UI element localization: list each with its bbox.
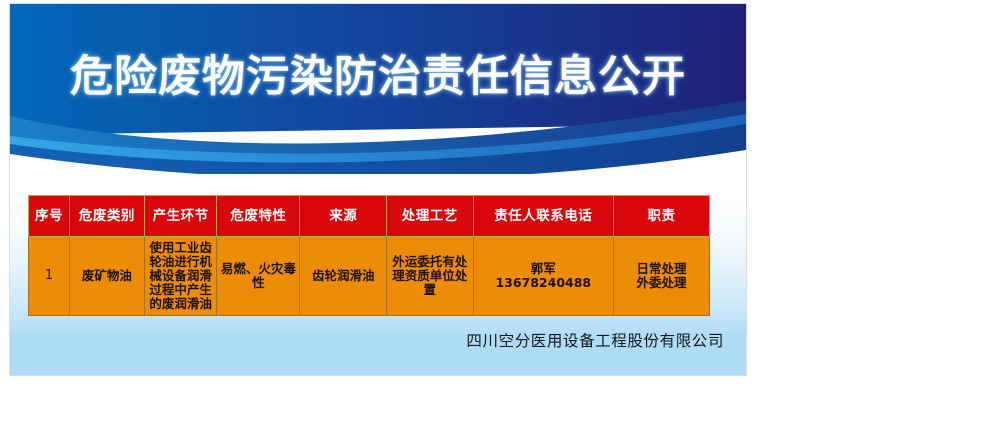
- hazardous-waste-table: 序号 危废类别 产生环节 危废特性 来源 处理工艺 责任人联系电话 职责 1 废…: [28, 195, 710, 316]
- cell-responsible-contact: 郭军 13678240488: [473, 237, 613, 316]
- table-row: 1 废矿物油 使用工业齿轮油进行机械设备润滑过程中产生的废润滑油 易燃、火灾毒性…: [29, 237, 710, 316]
- cell-source: 齿轮润滑油: [300, 237, 387, 316]
- information-board: 危险废物污染防治责任信息公开 序号 危废类别 产生环节 危废特性 来源 处理工艺…: [10, 4, 746, 375]
- duty-line-1: 日常处理: [617, 262, 706, 277]
- cell-generation-stage: 使用工业齿轮油进行机械设备润滑过程中产生的废润滑油: [144, 237, 217, 316]
- column-header-source: 来源: [300, 196, 387, 237]
- responsible-person-phone: 13678240488: [477, 276, 610, 291]
- cell-duty: 日常处理 外委处理: [613, 237, 709, 316]
- cell-category: 废矿物油: [69, 237, 144, 316]
- column-header-hazard-property: 危废特性: [217, 196, 300, 237]
- table-header-row: 序号 危废类别 产生环节 危废特性 来源 处理工艺 责任人联系电话 职责: [29, 196, 710, 237]
- page-title: 危险废物污染防治责任信息公开: [10, 52, 746, 102]
- column-header-category: 危废类别: [69, 196, 144, 237]
- header-banner: 危险废物污染防治责任信息公开: [10, 4, 746, 174]
- column-header-duty: 职责: [613, 196, 709, 237]
- responsible-person-name: 郭军: [477, 262, 610, 277]
- company-name: 四川空分医用设备工程股份有限公司: [10, 329, 724, 351]
- column-header-responsible-phone: 责任人联系电话: [473, 196, 613, 237]
- column-header-index: 序号: [29, 196, 70, 237]
- column-header-treatment-process: 处理工艺: [387, 196, 474, 237]
- cell-hazard-property: 易燃、火灾毒性: [217, 237, 300, 316]
- duty-line-2: 外委处理: [617, 276, 706, 291]
- cell-index: 1: [29, 237, 70, 316]
- cell-treatment-process: 外运委托有处理资质单位处置: [387, 237, 474, 316]
- column-header-generation-stage: 产生环节: [144, 196, 217, 237]
